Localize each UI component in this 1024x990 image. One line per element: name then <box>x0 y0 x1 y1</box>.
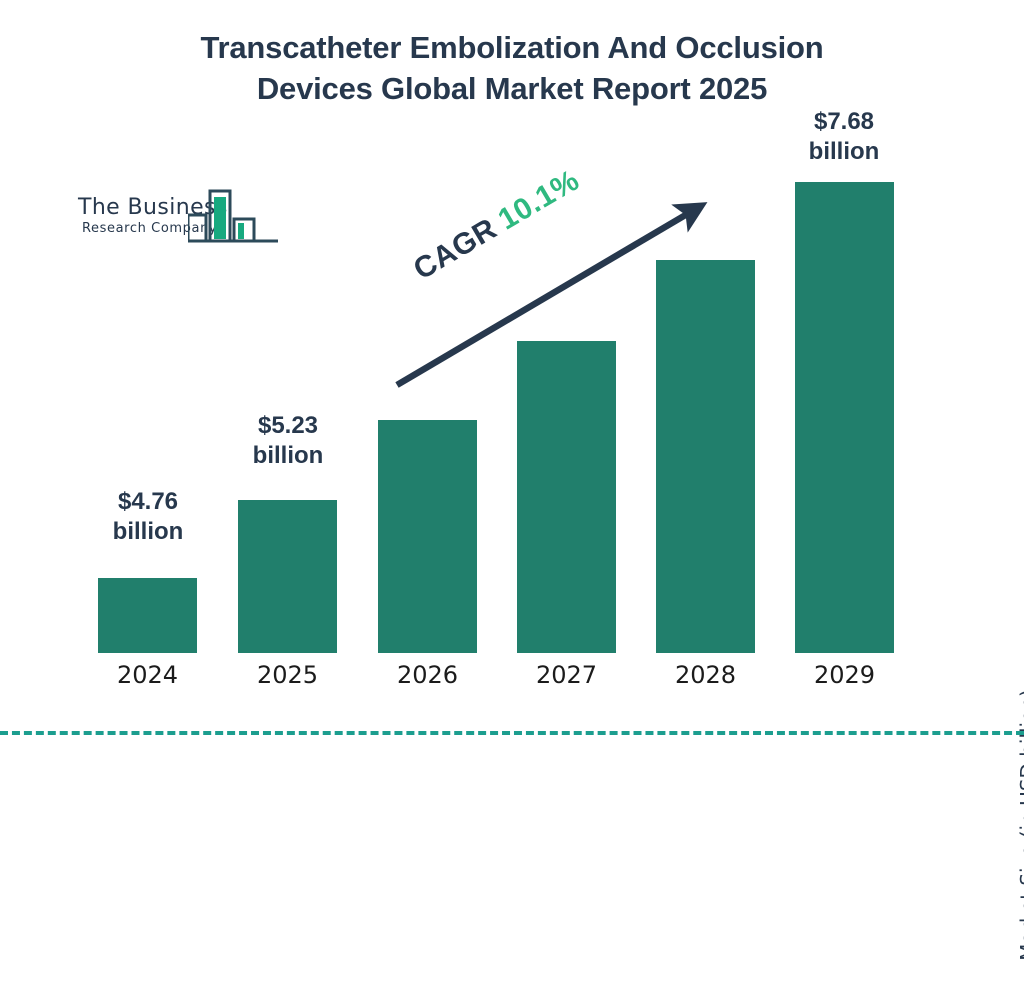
bar-value-2025: $5.23 billion <box>228 411 348 471</box>
bar-chart-plot: $4.76 billion $5.23 billion $7.68 billio… <box>0 0 1024 768</box>
y-axis-label: Market Size (in USD billion) <box>1016 660 1024 990</box>
bar-2026 <box>378 420 477 653</box>
footer-divider <box>0 731 1024 735</box>
x-tick-2026: 2026 <box>378 661 477 689</box>
bar-2025 <box>238 500 337 653</box>
x-tick-2028: 2028 <box>656 661 755 689</box>
cagr-label: CAGR <box>408 212 503 286</box>
bar-2024 <box>98 578 197 653</box>
cagr-annotation: CAGR10.1% <box>408 164 585 288</box>
x-tick-2027: 2027 <box>517 661 616 689</box>
bar-2028 <box>656 260 755 653</box>
bar-2027 <box>517 341 616 653</box>
bar-2029 <box>795 182 894 653</box>
cagr-value: 10.1% <box>493 164 585 237</box>
bar-value-2024: $4.76 billion <box>88 487 208 547</box>
x-tick-2024: 2024 <box>98 661 197 689</box>
bar-value-2029: $7.68 billion <box>784 107 904 167</box>
x-tick-2029: 2029 <box>795 661 894 689</box>
x-tick-2025: 2025 <box>238 661 337 689</box>
